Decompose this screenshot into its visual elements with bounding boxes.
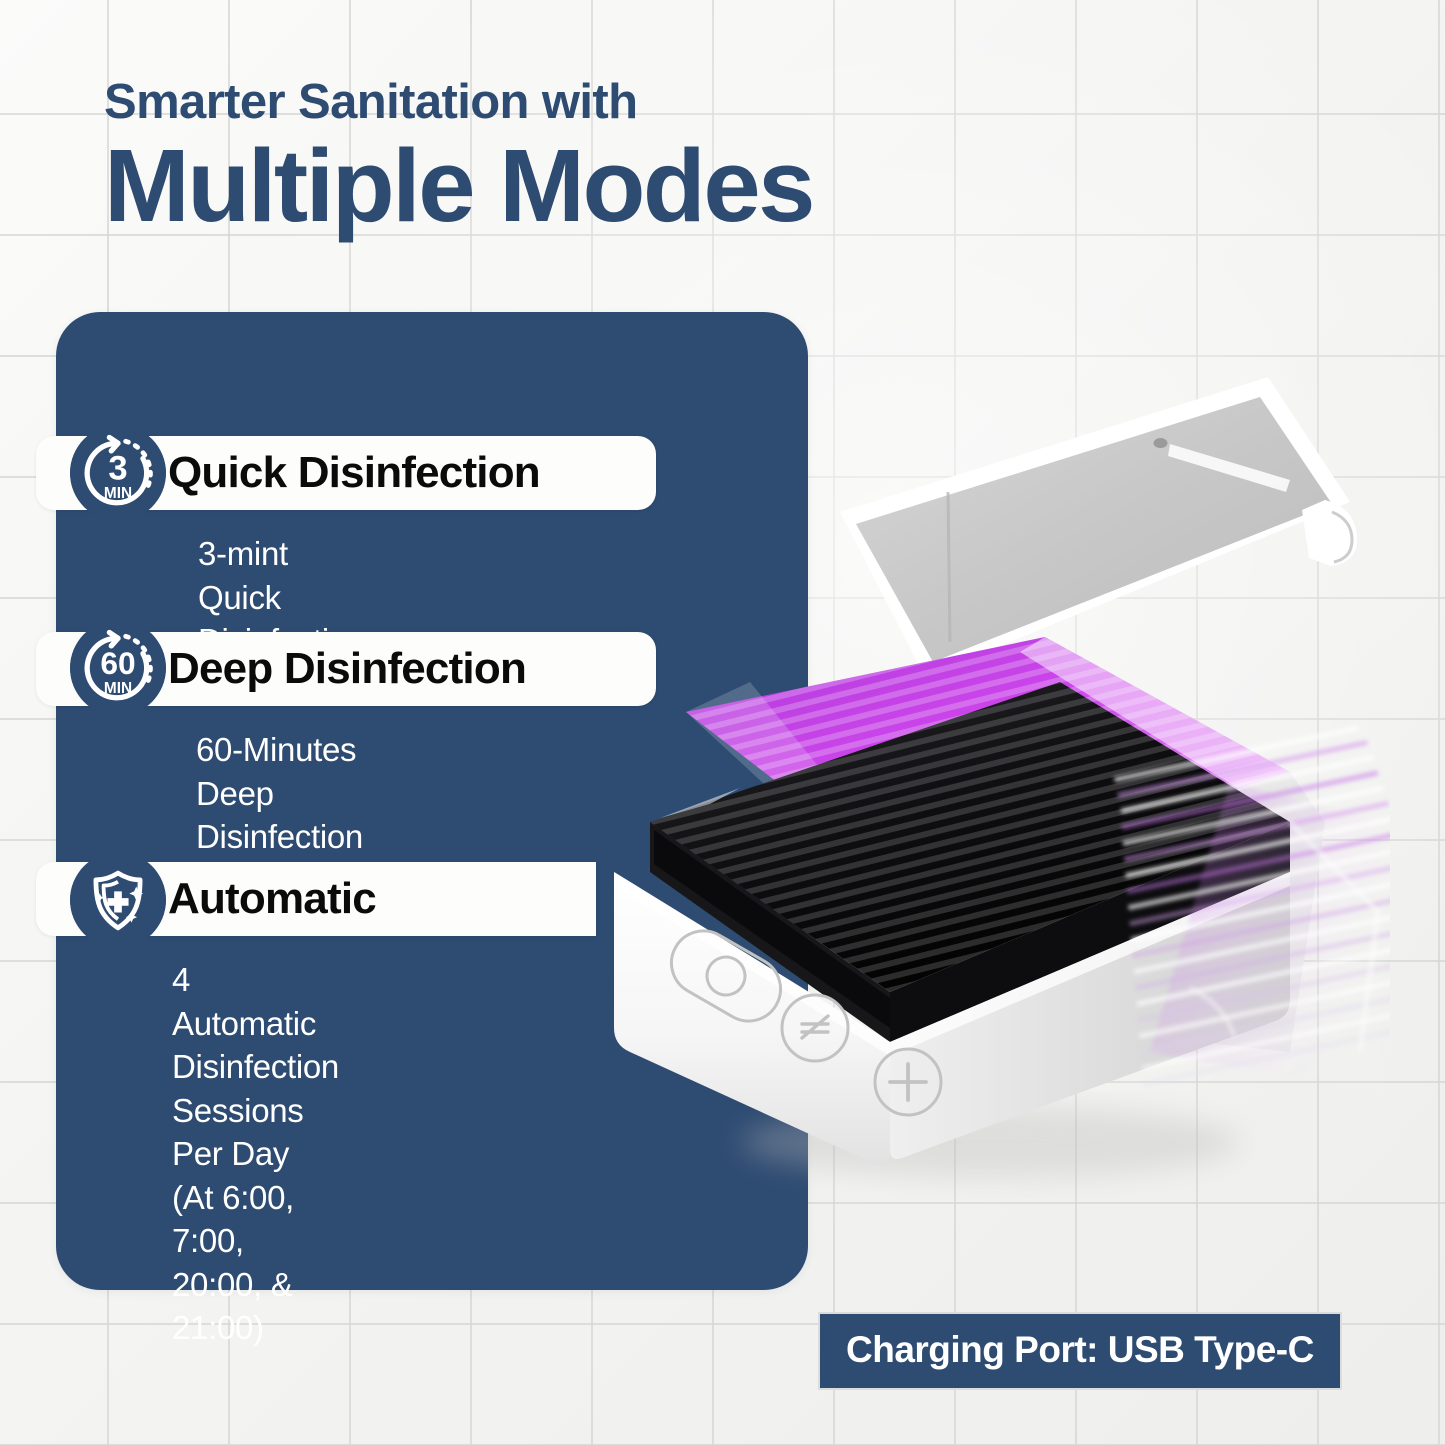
charging-port-label: Charging Port: USB Type-C [846, 1329, 1314, 1370]
timer-3-min-icon: 3 MIN [70, 425, 166, 521]
svg-text:MIN: MIN [104, 485, 132, 502]
uv-sanitizer-product-image [590, 352, 1390, 1202]
svg-text:60: 60 [100, 645, 135, 681]
shield-cross-icon [70, 852, 166, 948]
svg-text:3: 3 [108, 450, 127, 488]
headline-line-2: Multiple Modes [104, 133, 813, 238]
svg-text:MIN: MIN [104, 680, 132, 697]
feature-title: Quick Disinfection [168, 448, 540, 498]
feature-title: Deep Disinfection [168, 644, 526, 694]
charging-port-badge: Charging Port: USB Type-C [818, 1312, 1342, 1390]
device-lid [840, 377, 1357, 677]
feature-title: Automatic [168, 874, 376, 924]
headline-line-1: Smarter Sanitation with [104, 78, 813, 127]
feature-description: 4 Automatic Disinfection Sessions Per Da… [172, 958, 339, 1350]
timer-60-min-icon: 60 MIN [70, 620, 166, 716]
page-title: Smarter Sanitation with Multiple Modes [104, 78, 813, 238]
feature-description: 60-Minutes Deep Disinfection [196, 728, 363, 859]
